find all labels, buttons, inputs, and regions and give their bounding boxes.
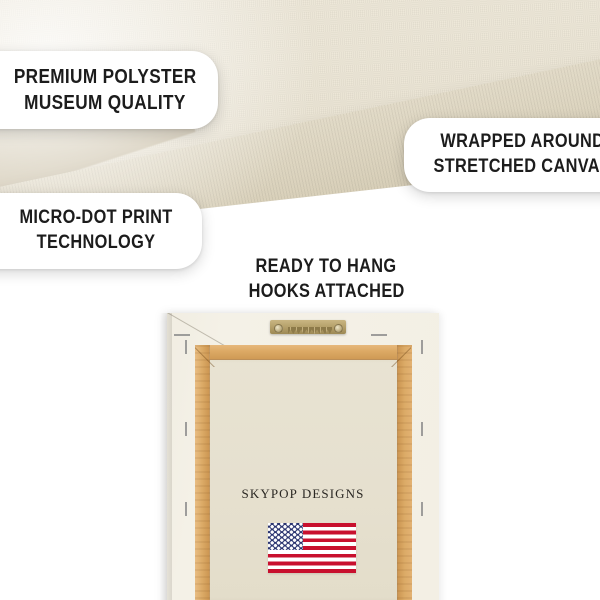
feature-pill-premium-polyster: PREMIUM POLYSTER MUSEUM QUALITY [0, 51, 218, 129]
staple-mark [421, 422, 423, 436]
feature-pill-line1: WRAPPED AROUND [440, 130, 600, 155]
staple-mark [421, 502, 423, 516]
brand-name: SKYPOP DESIGNS [204, 486, 402, 502]
feature-pill-wrapped-around: WRAPPED AROUND STRETCHED CANVAS [404, 118, 600, 192]
staple-mark [185, 422, 187, 436]
hanger-screw-icon [334, 324, 343, 333]
staple-mark [185, 502, 187, 516]
feature-pill-line2: STRETCHED CANVAS [433, 155, 600, 180]
caption-line1: READY TO HANG [249, 254, 404, 279]
canvas-back-shadow [160, 313, 172, 600]
feature-pill-line1: PREMIUM POLYSTER [14, 64, 197, 90]
stretcher-bar-left [195, 345, 210, 600]
sawtooth-hanger-icon [270, 318, 346, 336]
product-infographic: PREMIUM POLYSTER MUSEUM QUALITY WRAPPED … [0, 0, 600, 600]
stretcher-mitre-left [195, 345, 217, 367]
staple-mark [185, 340, 187, 354]
feature-pill-line2: TECHNOLOGY [37, 231, 156, 256]
feature-pill-line2: MUSEUM QUALITY [24, 90, 186, 116]
feature-pill-line1: MICRO-DOT PRINT [19, 206, 172, 231]
caption-ready-to-hang: READY TO HANG HOOKS ATTACHED [236, 254, 416, 304]
feature-pill-micro-dot-print: MICRO-DOT PRINT TECHNOLOGY [0, 193, 202, 269]
flag-stars [268, 523, 303, 550]
hanger-screw-icon [274, 324, 283, 333]
stretcher-bar-top [195, 345, 411, 360]
staple-mark [174, 334, 190, 336]
stretcher-mitre-right [389, 345, 411, 367]
stretcher-bar-right [397, 345, 412, 600]
staple-mark [421, 340, 423, 354]
staple-mark [371, 334, 387, 336]
caption-line2: HOOKS ATTACHED [249, 279, 404, 304]
us-flag-icon [268, 523, 356, 573]
flag-canton [268, 523, 303, 550]
